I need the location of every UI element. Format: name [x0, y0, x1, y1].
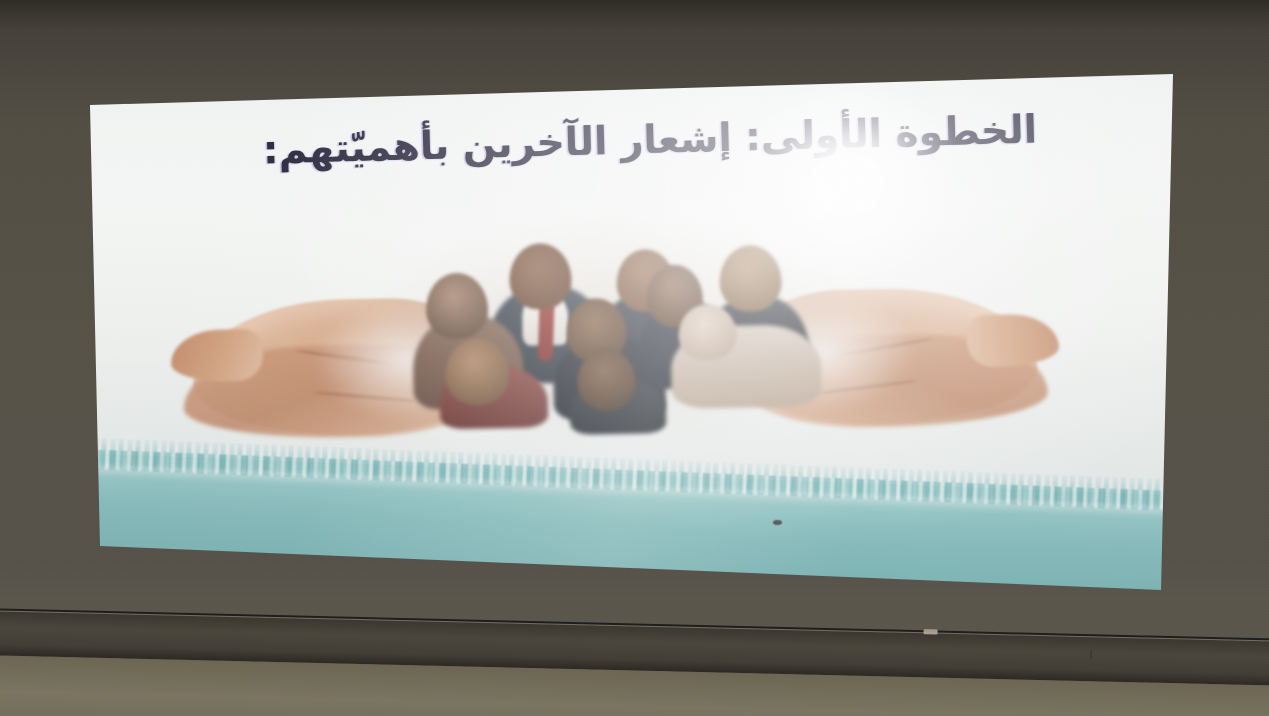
group-of-people	[401, 236, 834, 424]
left-thumb	[170, 329, 263, 383]
trim-fastener	[924, 629, 938, 634]
ceiling-shadow-strip	[0, 0, 1269, 30]
person-man-center-back-tie	[538, 303, 555, 361]
slide-illustration	[173, 232, 1057, 479]
dust-speck	[773, 520, 782, 525]
right-thumb	[966, 313, 1059, 367]
room-photo: الخطوة الأولى: إشعار الآخرين بأهميّتهم: …	[0, 0, 1269, 716]
wall-mark	[1090, 650, 1092, 659]
